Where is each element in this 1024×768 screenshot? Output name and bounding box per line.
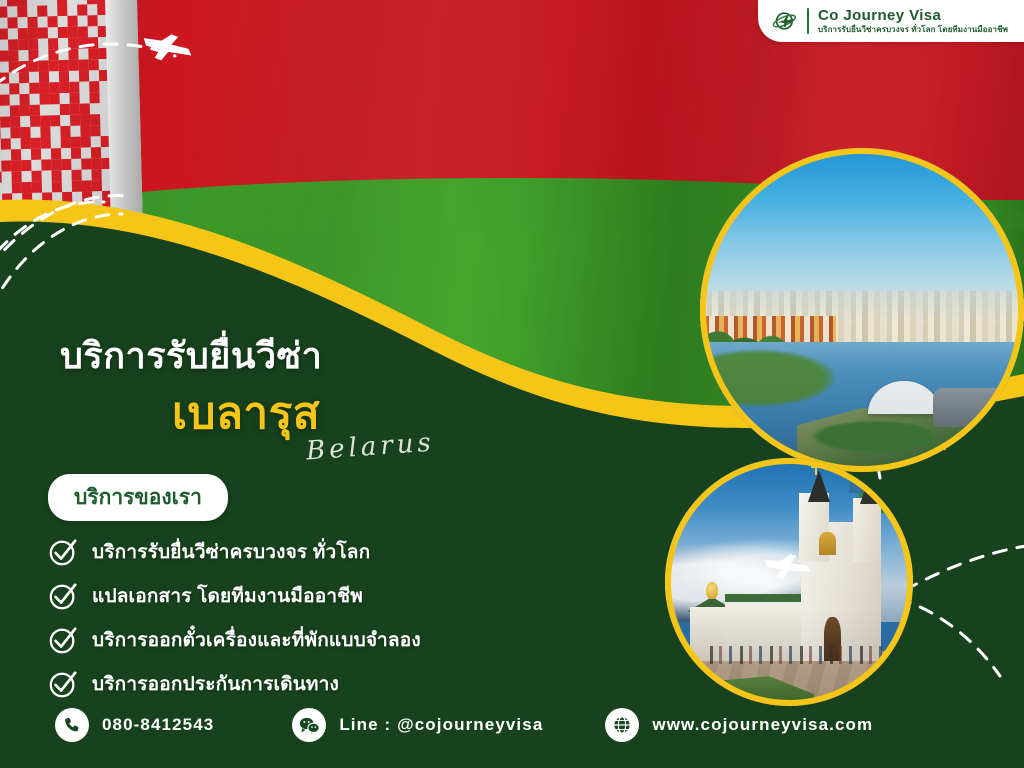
visa-promo-banner: Co Journey Visa บริการรับยื่นวีซ่าครบวงจ… bbox=[0, 0, 1024, 768]
brand-logo[interactable]: Co Journey Visa บริการรับยื่นวีซ่าครบวงจ… bbox=[758, 0, 1024, 42]
globe-icon bbox=[605, 708, 639, 742]
list-item: บริการออกตั๋วเครื่องและที่พักแบบจำลอง bbox=[48, 618, 608, 662]
contact-website[interactable]: www.cojourneyvisa.com bbox=[605, 708, 873, 742]
globe-glyph bbox=[611, 714, 633, 736]
logo-divider bbox=[807, 8, 809, 34]
photo-ring-top bbox=[700, 148, 1024, 472]
brand-name: Co Journey Visa bbox=[818, 8, 1008, 23]
line-chat-icon bbox=[292, 708, 326, 742]
country-name-th: เบลารุส bbox=[172, 378, 320, 448]
services-badge: บริการของเรา bbox=[48, 474, 228, 521]
contact-phone[interactable]: 080-8412543 bbox=[55, 708, 214, 742]
service-label: บริการรับยื่นวีซ่าครบวงจร ทั่วโลก bbox=[92, 537, 370, 567]
list-item: บริการออกประกันการเดินทาง bbox=[48, 662, 608, 706]
website-url: www.cojourneyvisa.com bbox=[652, 715, 873, 735]
contact-bar: 080-8412543 Line : @cojourneyvisa bbox=[55, 708, 873, 742]
check-circle-icon bbox=[48, 537, 78, 567]
line-chat-glyph bbox=[299, 716, 320, 735]
phone-icon bbox=[55, 708, 89, 742]
list-item: บริการรับยื่นวีซ่าครบวงจร ทั่วโลก bbox=[48, 530, 608, 574]
airplane-icon bbox=[140, 28, 196, 68]
list-item: แปลเอกสาร โดยทีมงานมืออาชีพ bbox=[48, 574, 608, 618]
phone-number: 080-8412543 bbox=[102, 715, 214, 735]
globe-plane-logo-icon bbox=[772, 8, 798, 34]
contact-line[interactable]: Line : @cojourneyvisa bbox=[292, 708, 543, 742]
check-circle-icon bbox=[48, 581, 78, 611]
services-list: บริการรับยื่นวีซ่าครบวงจร ทั่วโลก แปลเอก… bbox=[48, 530, 608, 706]
service-label: บริการออกตั๋วเครื่องและที่พักแบบจำลอง bbox=[92, 625, 421, 655]
service-label: แปลเอกสาร โดยทีมงานมืออาชีพ bbox=[92, 581, 363, 611]
brand-tagline: บริการรับยื่นวีซ่าครบวงจร ทั่วโลก โดยทีม… bbox=[818, 26, 1008, 34]
check-circle-icon bbox=[48, 669, 78, 699]
airplane-icon bbox=[762, 548, 814, 586]
line-id: Line : @cojourneyvisa bbox=[339, 715, 543, 735]
phone-glyph bbox=[63, 716, 82, 735]
check-circle-icon bbox=[48, 625, 78, 655]
page-title: บริการรับยื่นวีซ่า bbox=[60, 327, 322, 384]
logo-text-block: Co Journey Visa บริการรับยื่นวีซ่าครบวงจ… bbox=[818, 8, 1008, 34]
service-label: บริการออกประกันการเดินทาง bbox=[92, 669, 339, 699]
